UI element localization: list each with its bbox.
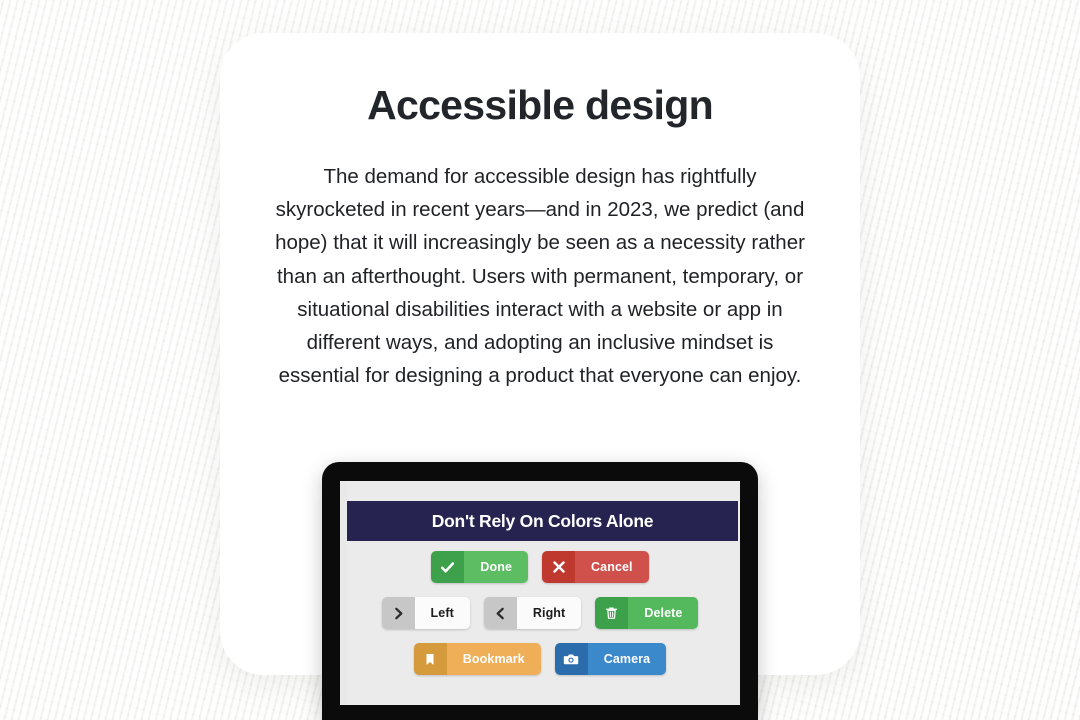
button-row-2: Left Right [340, 597, 740, 629]
button-row-3: Bookmark Camera [340, 643, 740, 675]
close-icon [542, 551, 575, 583]
screen-header-bar: Don't Rely On Colors Alone [347, 501, 738, 541]
check-icon [431, 551, 464, 583]
camera-icon [555, 643, 588, 675]
device-screen: Don't Rely On Colors Alone Done [340, 481, 740, 705]
camera-button[interactable]: Camera [555, 643, 666, 675]
button-row-1: Done Cancel [340, 551, 740, 583]
done-button-label: Done [464, 551, 528, 583]
delete-button-label: Delete [628, 597, 698, 629]
bookmark-button-label: Bookmark [447, 643, 541, 675]
body-paragraph: The demand for accessible design has rig… [268, 160, 812, 392]
bookmark-icon [414, 643, 447, 675]
left-button-label: Left [415, 597, 470, 629]
button-rows: Done Cancel [340, 551, 740, 689]
bookmark-button[interactable]: Bookmark [414, 643, 541, 675]
screen-header-title: Don't Rely On Colors Alone [432, 511, 654, 532]
tablet-device-mockup: Don't Rely On Colors Alone Done [322, 462, 758, 720]
page-title: Accessible design [220, 82, 860, 129]
cancel-button-label: Cancel [575, 551, 649, 583]
chevron-left-icon [484, 597, 517, 629]
done-button[interactable]: Done [431, 551, 528, 583]
chevron-right-icon [382, 597, 415, 629]
delete-button[interactable]: Delete [595, 597, 698, 629]
right-button-label: Right [517, 597, 581, 629]
trash-icon [595, 597, 628, 629]
camera-button-label: Camera [588, 643, 666, 675]
left-button[interactable]: Left [382, 597, 470, 629]
cancel-button[interactable]: Cancel [542, 551, 649, 583]
right-button[interactable]: Right [484, 597, 581, 629]
